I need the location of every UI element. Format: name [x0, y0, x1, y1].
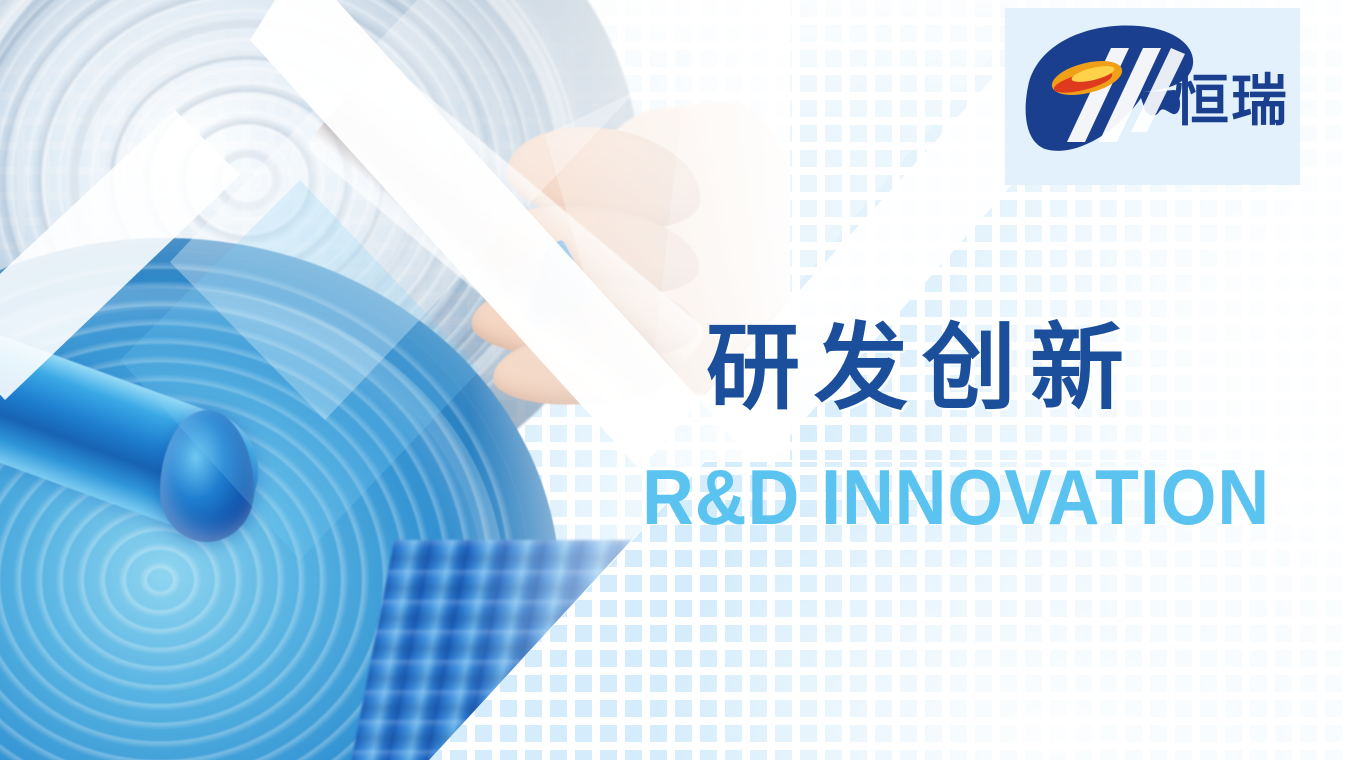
logo-brand-text: 恒瑞 [1173, 74, 1289, 130]
hengrui-swoosh-mark [1023, 20, 1198, 168]
page-subtitle-en: R&D INNOVATION [642, 458, 1270, 536]
page-title-cn: 研发创新 [706, 322, 1138, 416]
logo-plaque: 恒瑞 [1005, 8, 1300, 185]
rnd-innovation-banner: 研发创新 R&D INNOVATION 恒瑞 [0, 0, 1350, 760]
